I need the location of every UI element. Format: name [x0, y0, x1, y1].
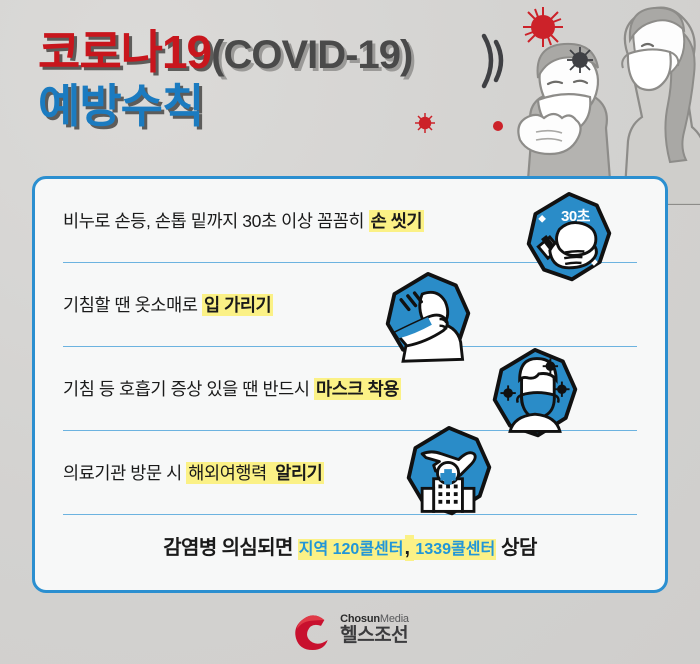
logo-wordmark: ChosunMedia 헬스조선	[340, 614, 409, 645]
callout-link-120[interactable]: 지역 120콜센터	[298, 539, 405, 560]
rule-text-2: 기침할 땐 옷소매로 입 가리기	[63, 292, 273, 317]
logo-brand-light: Media	[380, 613, 409, 625]
virus-particle-icon	[414, 112, 436, 134]
callout-link-1339[interactable]: 1339콜센터	[414, 539, 496, 560]
rule-3-prefix: 기침 등 호흡기 증상 있을 땐 반드시	[63, 379, 314, 399]
emergency-callout: 감염병 의심되면 지역 120콜센터, 1339콜센터 상담	[35, 531, 665, 560]
rule-4-emphasis: 알리기	[273, 462, 324, 484]
title-english: (COVID-19)	[211, 33, 412, 77]
virus-particle-icon	[490, 118, 506, 134]
rule-2-emphasis: 입 가리기	[202, 294, 273, 316]
prevention-rules-card: 비누로 손등, 손톱 밑까지 30초 이상 꼼꼼히 손 씻기 기침할 땐 옷소매…	[32, 176, 668, 593]
list-item: 기침 등 호흡기 증상 있을 땐 반드시 마스크 착용	[63, 347, 637, 431]
callout-suffix: 상담	[496, 537, 537, 559]
list-item: 비누로 손등, 손톱 밑까지 30초 이상 꼼꼼히 손 씻기	[63, 179, 637, 263]
rule-text-1: 비누로 손등, 손톱 밑까지 30초 이상 꼼꼼히 손 씻기	[63, 208, 424, 233]
rule-text-4: 의료기관 방문 시 해외여행력 알리기	[63, 460, 324, 485]
virus-particle-icon	[565, 45, 595, 75]
chosun-c-mark-icon	[291, 610, 331, 650]
title-korean: 코로나19	[38, 26, 211, 78]
masked-people-illustration	[480, 0, 700, 205]
logo-brand-bold: Chosun	[340, 613, 380, 625]
rule-3-emphasis: 마스크 착용	[314, 378, 401, 400]
rules-list: 비누로 손등, 손톱 밑까지 30초 이상 꼼꼼히 손 씻기 기침할 땐 옷소매…	[35, 179, 665, 515]
rule-text-3: 기침 등 호흡기 증상 있을 땐 반드시 마스크 착용	[63, 376, 401, 401]
rule-4-prefix: 의료기관 방문 시	[63, 463, 186, 483]
rule-2-prefix: 기침할 땐 옷소매로	[63, 295, 202, 315]
list-item: 의료기관 방문 시 해외여행력 알리기	[63, 431, 637, 515]
callout-prefix: 감염병 의심되면	[163, 537, 298, 559]
callout-comma: ,	[405, 535, 415, 561]
title-subtitle: 예방수칙	[38, 82, 412, 130]
rule-1-emphasis: 손 씻기	[369, 210, 425, 232]
logo-korean-name: 헬스조선	[340, 626, 409, 646]
title-line-1: 코로나19(COVID-19)	[38, 28, 412, 76]
rule-4-highlight: 해외여행력	[186, 462, 273, 484]
list-item: 기침할 땐 옷소매로 입 가리기	[63, 263, 637, 347]
rule-1-prefix: 비누로 손등, 손톱 밑까지 30초 이상 꼼꼼히	[63, 211, 369, 231]
chosun-media-logo[interactable]: ChosunMedia 헬스조선	[0, 610, 700, 650]
poster-title: 코로나19(COVID-19) 예방수칙	[38, 28, 412, 131]
poster-canvas: 코로나19(COVID-19) 예방수칙 비누로 손등, 손톱 밑까지 30초 …	[0, 0, 700, 664]
virus-particle-icon	[520, 4, 566, 50]
